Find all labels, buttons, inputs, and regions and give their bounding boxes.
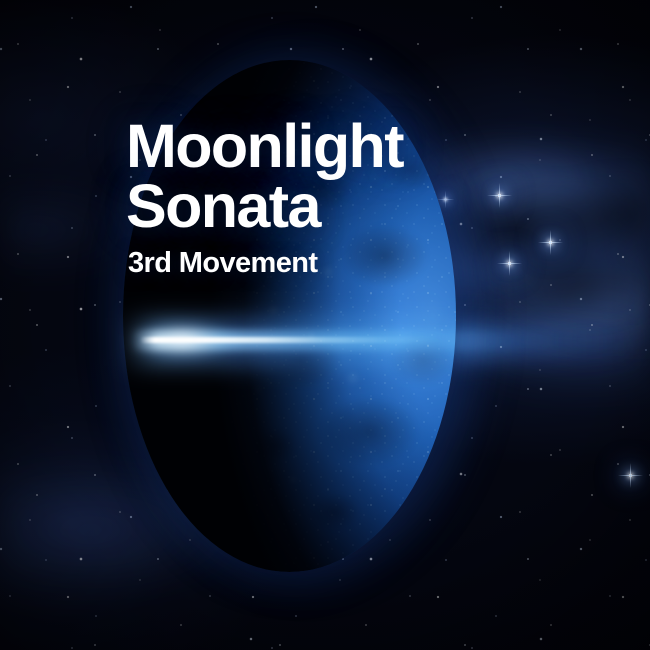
- album-cover-artwork: Moonlight Sonata 3rd Movement: [0, 0, 650, 650]
- album-title-line-2: Sonata: [126, 176, 403, 236]
- bright-star-icon: [629, 474, 632, 477]
- bright-star-icon: [444, 198, 446, 200]
- album-title: Moonlight Sonata: [126, 116, 403, 237]
- album-title-line-1: Moonlight: [126, 112, 403, 180]
- title-block: Moonlight Sonata 3rd Movement: [126, 116, 403, 278]
- bright-star-icon: [308, 330, 311, 333]
- nebula-dark-dust: [0, 0, 650, 650]
- album-subtitle: 3rd Movement: [128, 249, 403, 278]
- bright-star-icon: [549, 241, 552, 244]
- bright-star-icon: [498, 194, 501, 197]
- bright-star-icon: [508, 262, 511, 265]
